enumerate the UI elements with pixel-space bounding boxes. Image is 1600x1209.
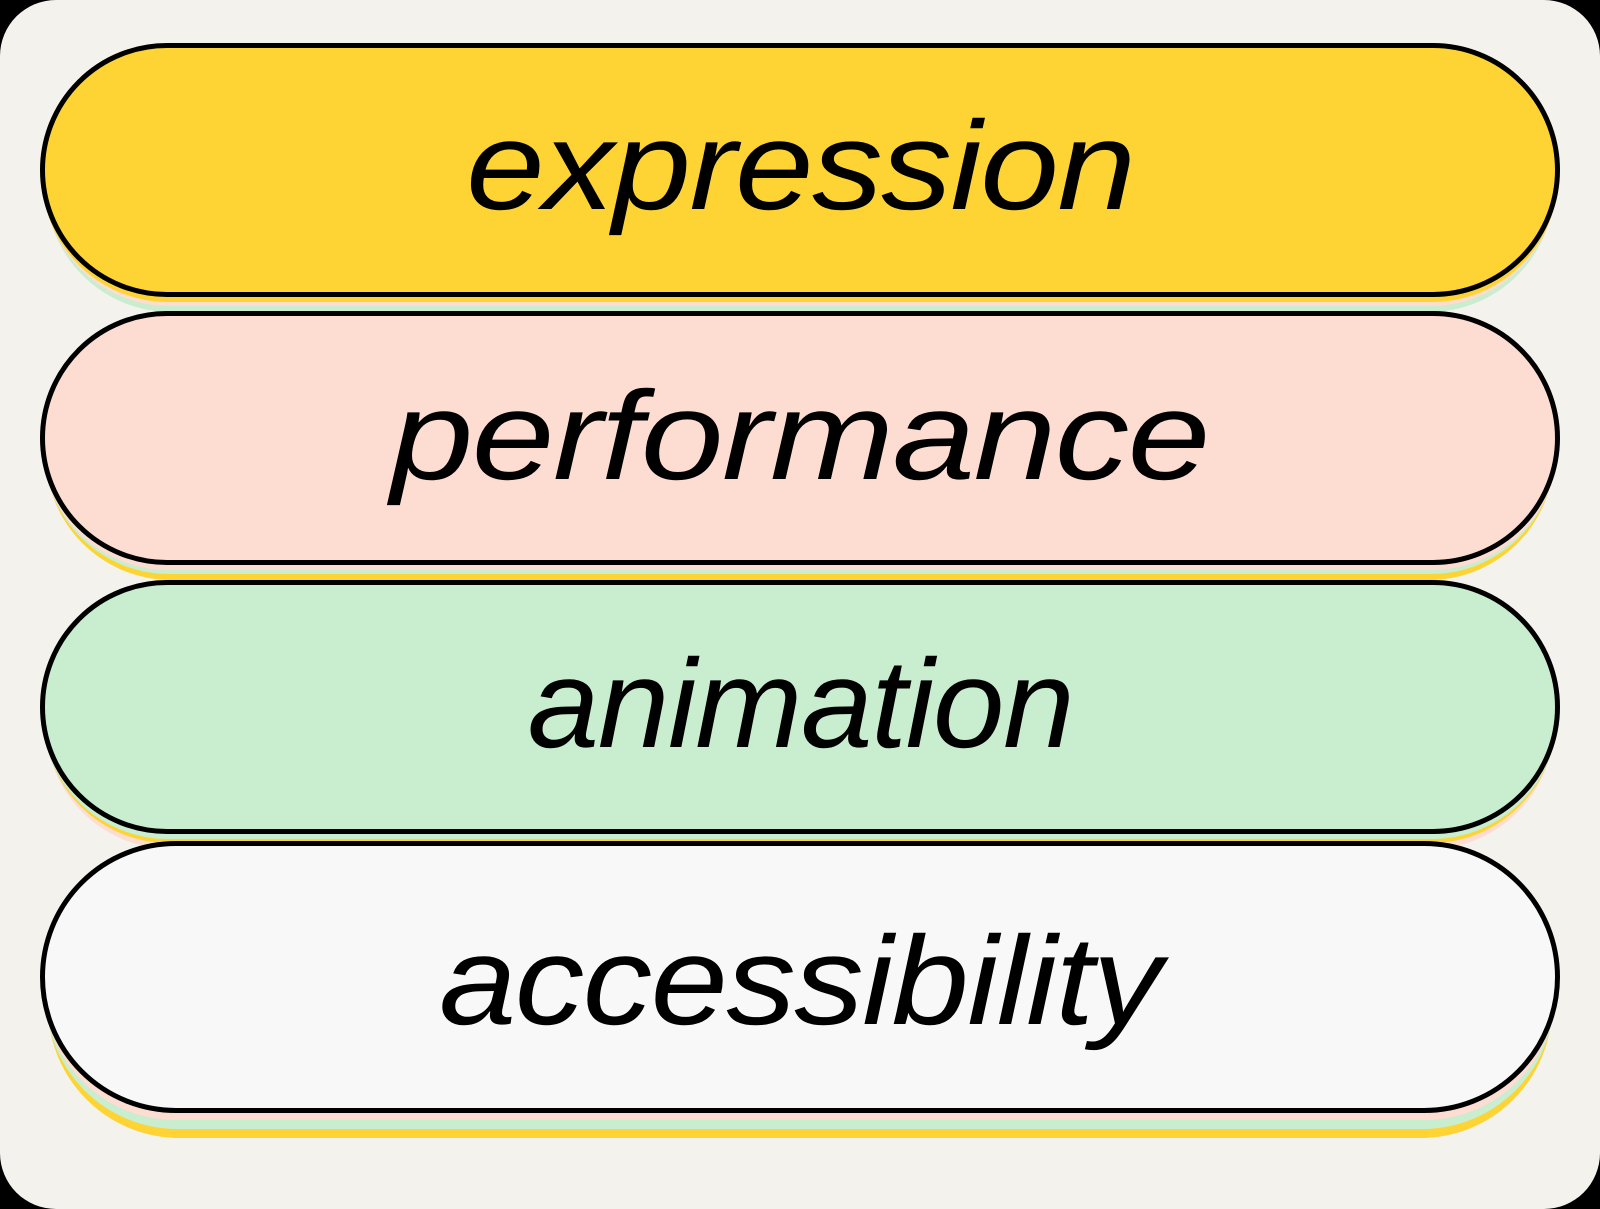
page-canvas: expression performance animation accessi… xyxy=(0,0,1600,1209)
card-stack-accessibility: accessibility xyxy=(0,788,1600,1168)
card-performance[interactable]: performance xyxy=(40,311,1560,565)
card-label-animation: animation xyxy=(527,641,1073,767)
card-accessibility[interactable]: accessibility xyxy=(40,841,1560,1113)
card-label-performance: performance xyxy=(391,373,1209,499)
card-label-expression: expression xyxy=(466,103,1134,229)
card-label-accessibility: accessibility xyxy=(439,918,1160,1044)
